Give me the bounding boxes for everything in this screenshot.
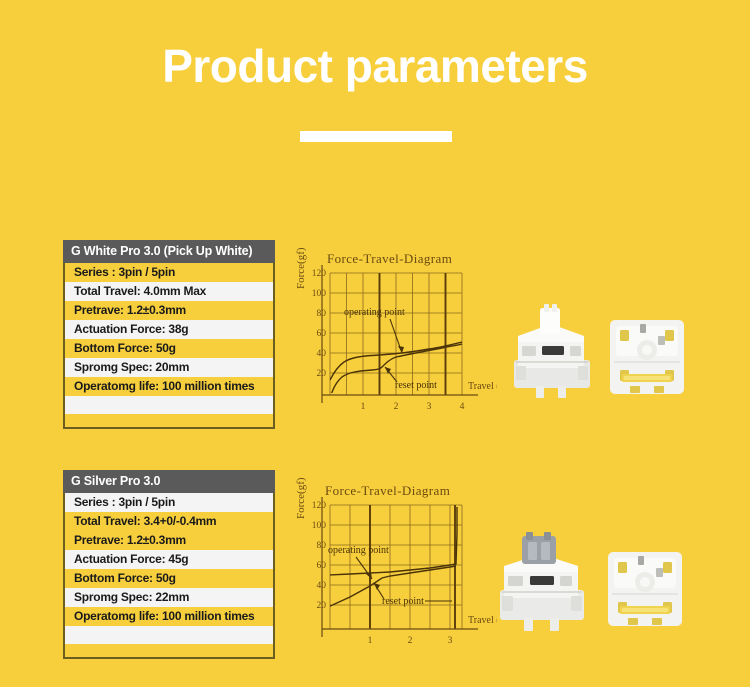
- chart-curves: [326, 507, 457, 607]
- spec-row: Pretrave: 1.2±0.3mm: [65, 301, 273, 320]
- chart-title: Force-Travel-Diagram: [327, 251, 452, 266]
- chart-grid-vertical: [330, 505, 462, 629]
- chart-title: Force-Travel-Diagram: [325, 483, 450, 498]
- chart-y-axis-label: Force(gf): [295, 477, 307, 519]
- force-travel-chart-white: Force(gf) Force-Travel-Diagram: [292, 243, 497, 448]
- force-travel-chart-silver: Force(gf) Force-Travel-Diagram: [292, 473, 497, 678]
- chart-annotation-operating-point: operating point: [344, 307, 405, 318]
- chart-y-tick: 20: [317, 601, 327, 611]
- switch-image-group-silver: [470, 532, 695, 637]
- spec-row-footer: [65, 414, 273, 427]
- spec-row: Operatomg life: 100 million times: [65, 377, 273, 396]
- chart-arrowhead-operating: [398, 346, 404, 353]
- chart-y-tick: 120: [312, 501, 327, 511]
- white-mechanical-switch-angled-view: [514, 304, 590, 398]
- chart-y-tick: 120: [312, 269, 327, 279]
- spec-row: Pretrave: 1.2±0.3mm: [65, 531, 273, 550]
- chart-y-tick: 80: [317, 309, 327, 319]
- chart-annotation-reset-point: reset point: [382, 596, 424, 607]
- chart-y-tick: 20: [317, 369, 327, 379]
- spec-row-empty: [65, 396, 273, 414]
- spec-row: Spromg Spec: 20mm: [65, 358, 273, 377]
- chart-x-tick: 2: [408, 636, 413, 646]
- chart-grid-vertical-major: [370, 505, 455, 629]
- chart-x-tick: 1: [361, 402, 366, 412]
- chart-y-tick-labels: 120 100 80 60 40 20: [312, 269, 327, 379]
- spec-row-footer: [65, 644, 273, 657]
- spec-row: Actuation Force: 45g: [65, 550, 273, 569]
- chart-y-tick: 60: [317, 561, 327, 571]
- spec-row: Actuation Force: 38g: [65, 320, 273, 339]
- chart-x-tick-labels: 1 2 3 4: [361, 402, 465, 412]
- white-mechanical-switch-bottom-view: [610, 320, 684, 394]
- silver-mechanical-switch-bottom-view: [608, 552, 682, 626]
- spec-header-title: G Silver Pro 3.0: [63, 470, 275, 493]
- spec-row-empty: [65, 626, 273, 644]
- chart-annotation-reset-point: reset point: [395, 380, 437, 391]
- chart-x-tick: 2: [394, 402, 399, 412]
- chart-y-tick: 100: [312, 521, 327, 531]
- chart-y-tick-labels: 120 100 80 60 40 20: [312, 501, 327, 611]
- spec-row: Operatomg life: 100 million times: [65, 607, 273, 626]
- chart-x-tick: 1: [368, 636, 373, 646]
- chart-annotation-operating-point: operating point: [328, 545, 389, 556]
- chart-x-tick: 4: [460, 402, 465, 412]
- switch-image-group-white: [492, 302, 692, 407]
- chart-x-tick-labels: 1 2 3: [368, 636, 453, 646]
- chart-arrowhead-reset: [374, 583, 380, 590]
- chart-x-tick: 3: [427, 402, 432, 412]
- chart-y-tick: 40: [317, 581, 327, 591]
- chart-y-tick: 100: [312, 289, 327, 299]
- silver-mechanical-switch-angled-view: [500, 532, 584, 631]
- spec-body: Series : 3pin / 5pin Total Travel: 4.0mm…: [63, 263, 275, 429]
- spec-row: Bottom Force: 50g: [65, 339, 273, 358]
- spec-row: Spromg Spec: 22mm: [65, 588, 273, 607]
- spec-block-g-silver-pro: G Silver Pro 3.0 Series : 3pin / 5pin To…: [63, 470, 275, 659]
- chart-y-tick: 40: [317, 349, 327, 359]
- chart-grid-vertical: [330, 273, 462, 395]
- chart-y-axis-label: Force(gf): [295, 247, 307, 289]
- spec-row: Bottom Force: 50g: [65, 569, 273, 588]
- spec-row: Series : 3pin / 5pin: [65, 493, 273, 512]
- chart-y-tick: 80: [317, 541, 327, 551]
- spec-body: Series : 3pin / 5pin Total Travel: 3.4+0…: [63, 493, 275, 659]
- spec-row: Total Travel: 4.0mm Max: [65, 282, 273, 301]
- title-underline-rule: [300, 131, 452, 142]
- page-title: Product parameters: [0, 38, 750, 94]
- chart-y-tick: 60: [317, 329, 327, 339]
- spec-row: Series : 3pin / 5pin: [65, 263, 273, 282]
- spec-header-title: G White Pro 3.0 (Pick Up White): [63, 240, 275, 263]
- chart-x-tick: 3: [448, 636, 453, 646]
- spec-row: Total Travel: 3.4+0/-0.4mm: [65, 512, 273, 531]
- spec-block-g-white-pro: G White Pro 3.0 (Pick Up White) Series :…: [63, 240, 275, 429]
